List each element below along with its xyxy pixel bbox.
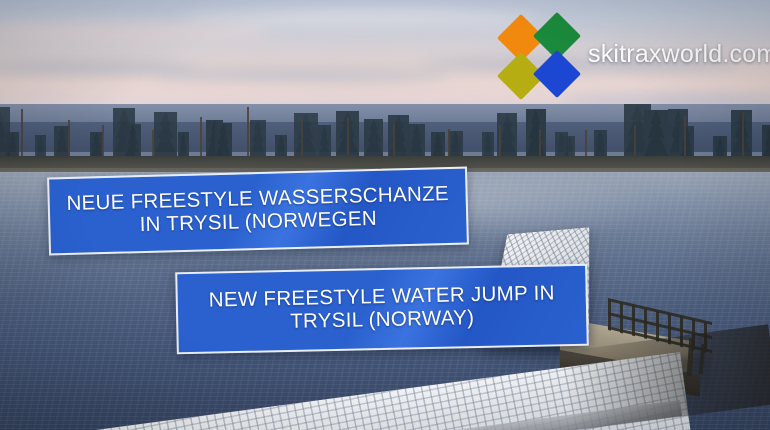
site-watermark[interactable]: skitraxworld.com [502, 14, 764, 94]
diamond-blue-icon [533, 50, 581, 98]
caption-text-german: NEUE FREESTYLE WASSERSCHANZE IN TRYSIL (… [56, 183, 459, 239]
caption-banner-german: NEUE FREESTYLE WASSERSCHANZE IN TRYSIL (… [47, 167, 469, 256]
cloud [180, 10, 540, 26]
four-diamond-logo [502, 15, 574, 93]
caption-text-english: NEW FREESTYLE WATER JUMP IN TRYSIL (NORW… [199, 282, 566, 336]
site-name-text: skitraxworld.com [588, 40, 770, 69]
caption-banner-english: NEW FREESTYLE WATER JUMP IN TRYSIL (NORW… [175, 264, 589, 355]
cloud [60, 88, 340, 100]
cloud [150, 70, 450, 81]
screenshot-canvas: skitraxworld.com NEUE FREESTYLE WASSERSC… [0, 0, 770, 430]
